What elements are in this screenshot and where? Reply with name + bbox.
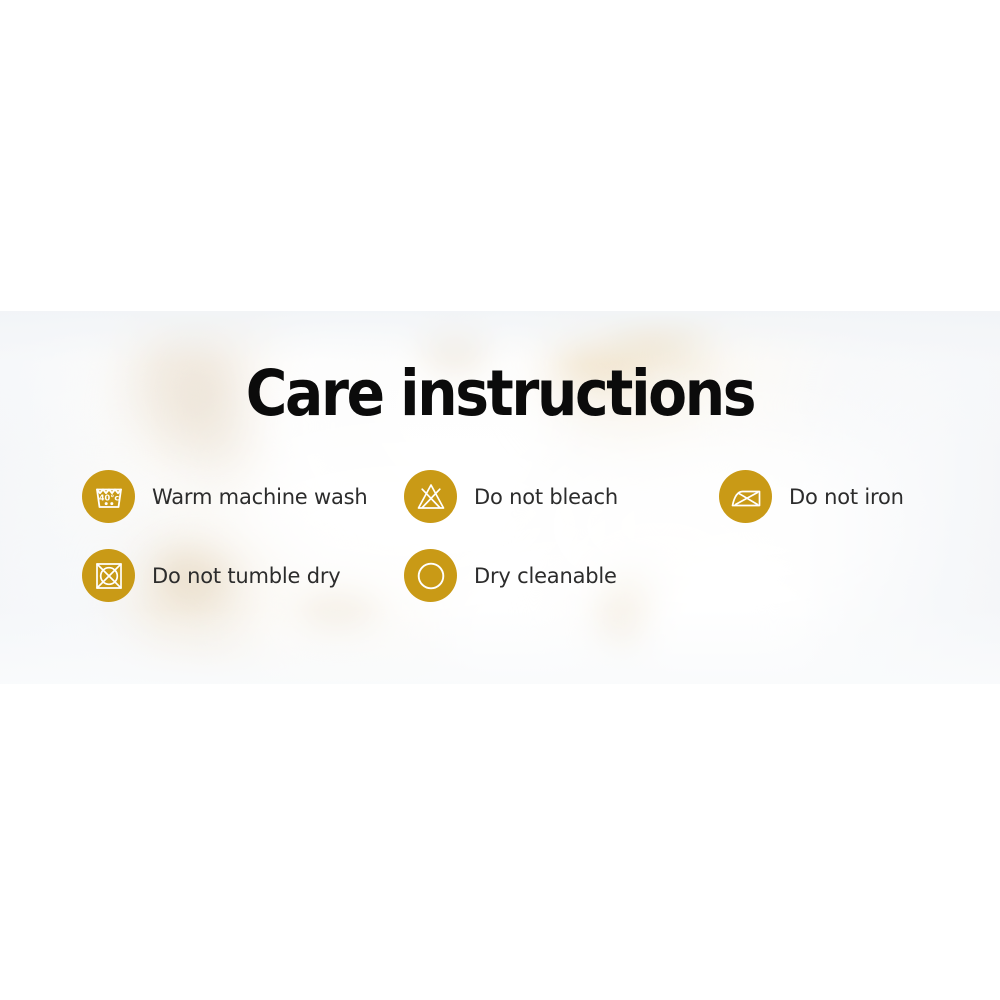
- dry-cleanable-icon: [404, 549, 457, 602]
- care-item-do-not-iron: Do not iron: [719, 470, 904, 523]
- care-row: Do not tumble dry Dry cleanable: [0, 549, 1000, 628]
- care-item-label: Do not iron: [789, 485, 904, 509]
- care-item-label: Dry cleanable: [474, 564, 617, 588]
- care-instructions-page: Care instructions 40°c Warm mach: [0, 0, 1000, 1000]
- care-row: 40°c Warm machine wash: [0, 470, 1000, 549]
- do-not-bleach-icon: [404, 470, 457, 523]
- background-blob: [610, 317, 730, 357]
- care-instructions-grid: 40°c Warm machine wash: [0, 470, 1000, 628]
- page-title: Care instructions: [50, 362, 950, 425]
- care-item-do-not-tumble-dry: Do not tumble dry: [82, 549, 341, 602]
- care-item-dry-cleanable: Dry cleanable: [404, 549, 617, 602]
- do-not-tumble-dry-icon: [82, 549, 135, 602]
- care-item-label: Do not bleach: [474, 485, 618, 509]
- warm-machine-wash-icon: 40°c: [82, 470, 135, 523]
- care-item-label: Warm machine wash: [152, 485, 368, 509]
- svg-text:40°c: 40°c: [98, 492, 118, 502]
- care-item-do-not-bleach: Do not bleach: [404, 470, 618, 523]
- care-item-warm-machine-wash: 40°c Warm machine wash: [82, 470, 368, 523]
- do-not-iron-icon: [719, 470, 772, 523]
- care-item-label: Do not tumble dry: [152, 564, 341, 588]
